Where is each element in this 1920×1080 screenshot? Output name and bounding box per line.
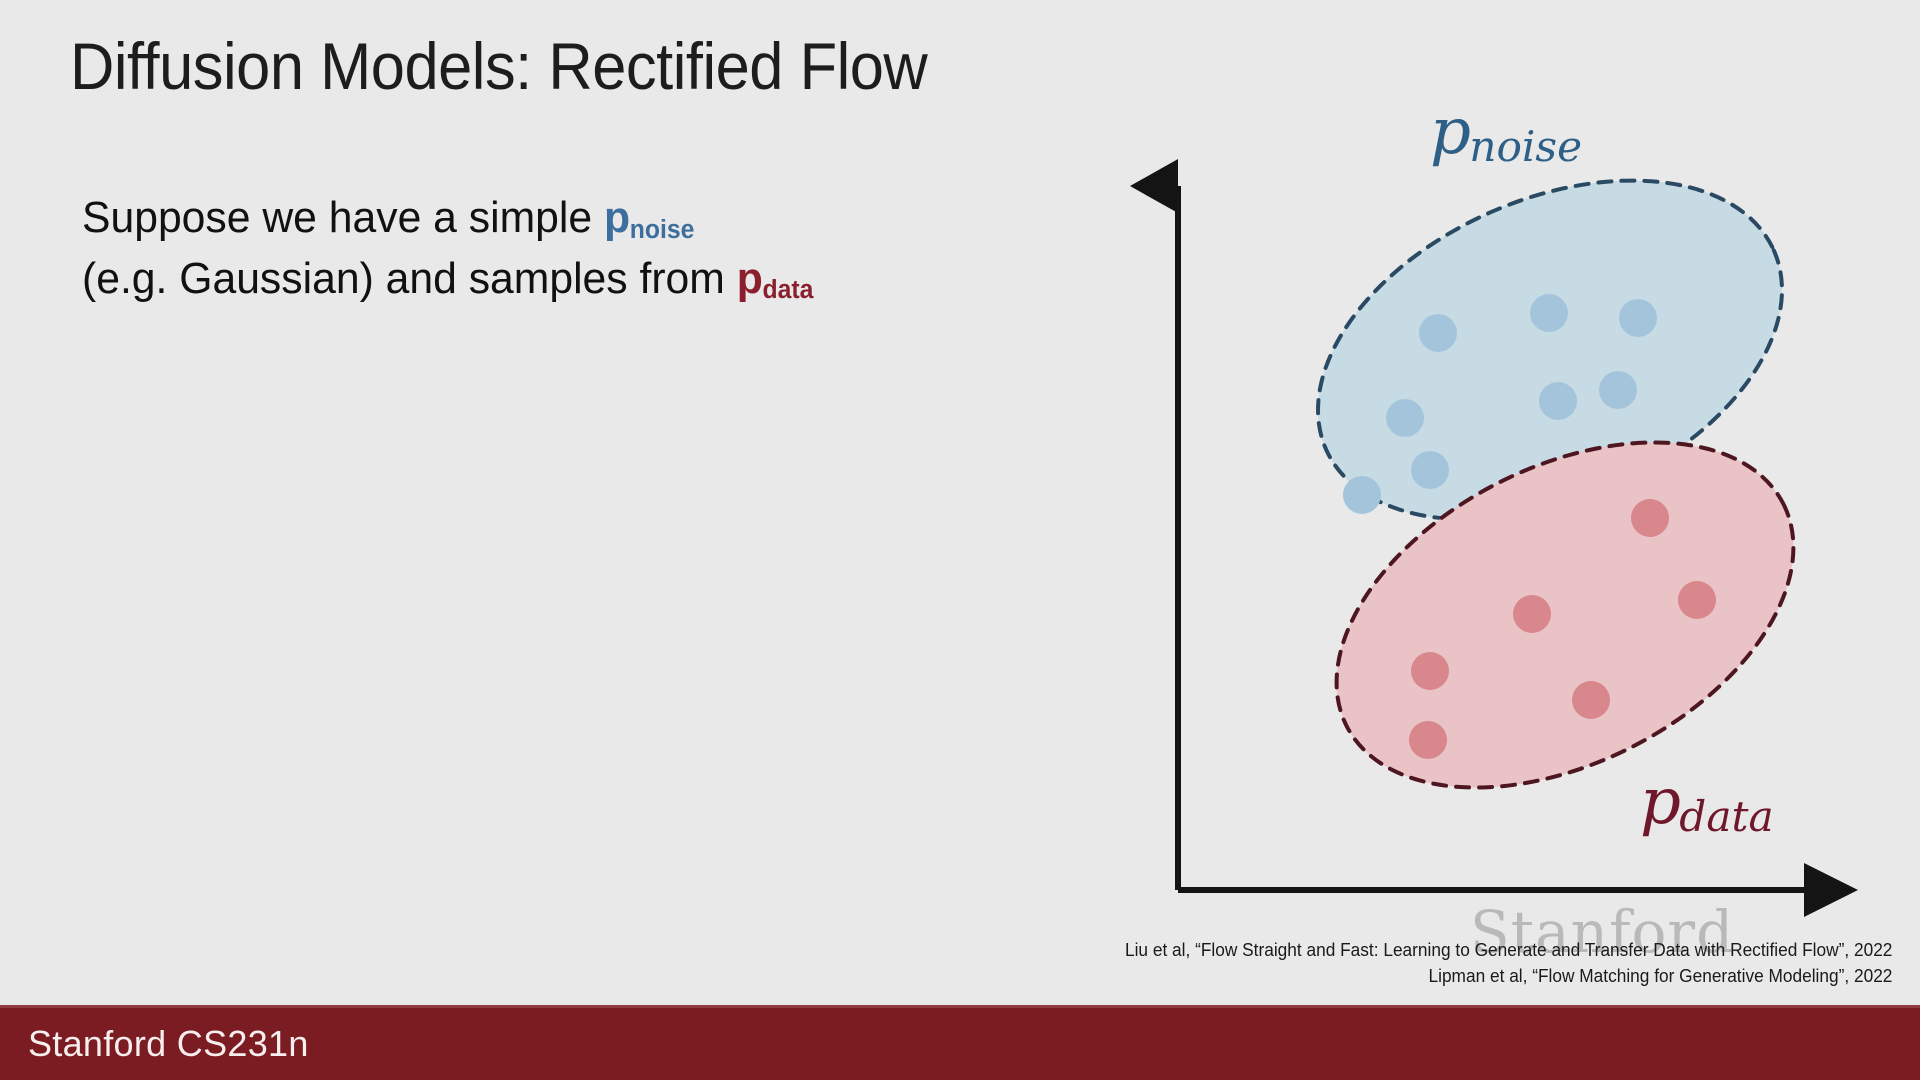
diagram-svg <box>1130 60 1920 960</box>
slide-footer-bar: Stanford CS231n <box>0 1005 1920 1080</box>
noise-sample-point <box>1599 371 1637 409</box>
p-noise-inline-subscript: noise <box>630 216 695 244</box>
p-noise-inline: pnoise <box>604 193 694 242</box>
body-line-2: (e.g. Gaussian) and samples from pdata <box>82 249 813 310</box>
p-noise-inline-base: p <box>604 193 630 242</box>
body-paragraph: Suppose we have a simple pnoise (e.g. Ga… <box>82 188 813 309</box>
data-sample-point <box>1513 595 1551 633</box>
noise-sample-point <box>1386 399 1424 437</box>
noise-sample-point <box>1619 299 1657 337</box>
citation-block: Liu et al, “Flow Straight and Fast: Lear… <box>1125 938 1892 989</box>
body-line-1-prefix: Suppose we have a simple <box>82 193 604 242</box>
p-data-inline-base: p <box>737 254 763 303</box>
data-sample-point <box>1678 581 1716 619</box>
citation-line: Lipman et al, “Flow Matching for Generat… <box>1125 964 1892 990</box>
citation-line: Liu et al, “Flow Straight and Fast: Lear… <box>1125 938 1892 964</box>
diagram-label-p-data: pdata <box>1640 770 1775 834</box>
course-label: Stanford CS231n <box>28 1023 309 1065</box>
diagram-label-p-noise-subscript: noise <box>1469 122 1582 171</box>
noise-sample-point <box>1539 382 1577 420</box>
diagram-label-p-noise: pnoise <box>1430 100 1584 164</box>
slide-canvas: Diffusion Models: Rectified Flow Suppose… <box>0 0 1920 1080</box>
diagram-label-p-data-subscript: data <box>1679 792 1773 841</box>
body-line-2-prefix: (e.g. Gaussian) and samples from <box>82 254 737 303</box>
data-sample-point <box>1409 721 1447 759</box>
data-sample-point <box>1572 681 1610 719</box>
distribution-diagram: pnoise pdata <box>1130 60 1920 960</box>
page-title: Diffusion Models: Rectified Flow <box>70 32 927 101</box>
diagram-label-p-noise-base: p <box>1430 95 1471 169</box>
body-line-1: Suppose we have a simple pnoise <box>82 188 813 249</box>
data-sample-point <box>1631 499 1669 537</box>
p-data-inline-subscript: data <box>762 276 813 304</box>
p-data-inline: pdata <box>737 254 814 303</box>
diagram-label-p-data-base: p <box>1640 765 1681 839</box>
data-sample-point <box>1411 652 1449 690</box>
noise-sample-point <box>1530 294 1568 332</box>
noise-sample-point <box>1419 314 1457 352</box>
noise-sample-point <box>1411 451 1449 489</box>
noise-sample-point <box>1343 476 1381 514</box>
